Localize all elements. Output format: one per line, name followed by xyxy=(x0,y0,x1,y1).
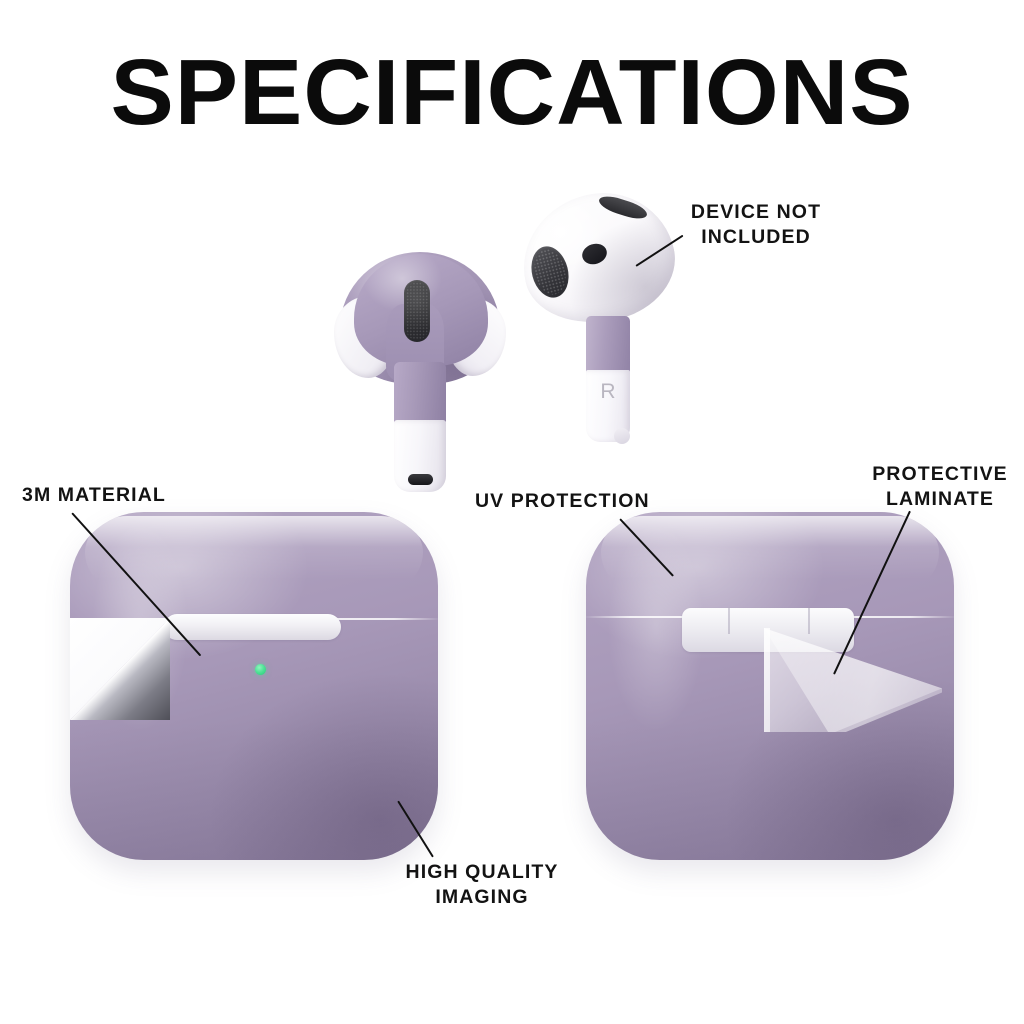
case-top-rim-highlight xyxy=(601,516,940,606)
laminate-flap xyxy=(764,628,942,732)
charging-case-back xyxy=(586,512,954,860)
callout-high-quality-imaging: HIGH QUALITY IMAGING xyxy=(382,860,582,910)
callout-3m-material: 3M MATERIAL xyxy=(22,483,212,508)
case-bottom-shading xyxy=(586,721,954,860)
status-led xyxy=(255,664,266,675)
charging-case-front xyxy=(70,512,438,860)
microphone-slot-icon xyxy=(408,474,433,485)
right-earbud: R xyxy=(520,188,700,454)
case-top-rim-highlight xyxy=(85,516,424,606)
page-title: SPECIFICATIONS xyxy=(0,46,1024,139)
peeled-corner xyxy=(70,618,170,720)
earbud-stem-skin xyxy=(394,362,446,424)
earbud-stem-band xyxy=(586,316,630,374)
case-bottom-shading xyxy=(70,721,438,860)
speaker-grille-icon xyxy=(404,280,430,342)
stem-contact-tip xyxy=(614,428,630,444)
specifications-infographic: SPECIFICATIONS R xyxy=(0,0,1024,1024)
callout-uv-protection: UV PROTECTION xyxy=(475,489,675,514)
callout-protective-laminate: PROTECTIVE LAMINATE xyxy=(866,462,1014,512)
callout-device-not-included: DEVICE NOT INCLUDED xyxy=(686,200,826,250)
case-hinge-bar xyxy=(164,614,341,640)
channel-marking: R xyxy=(586,380,630,404)
left-earbud xyxy=(332,252,512,508)
